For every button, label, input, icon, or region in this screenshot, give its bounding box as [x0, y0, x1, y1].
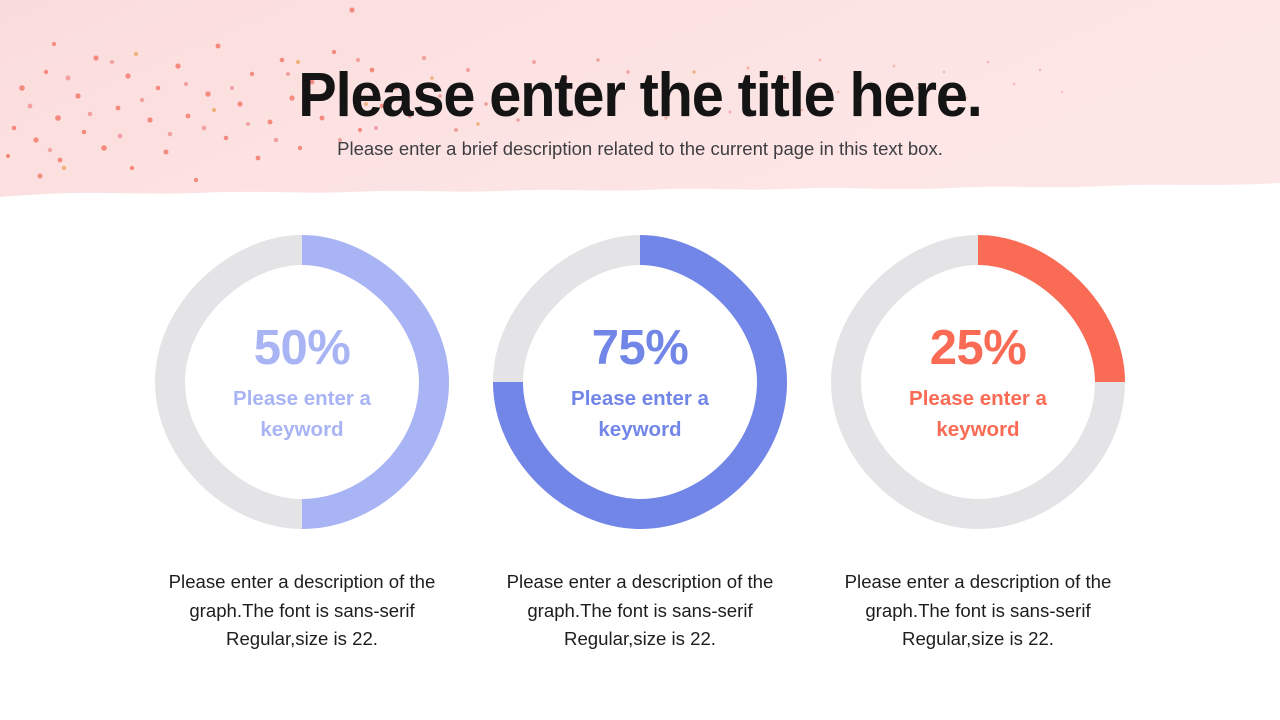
donut-chart-2-keyword: Please enter a keyword: [555, 383, 725, 445]
donut-chart-3-caption: Please enter a description of the graph.…: [818, 568, 1138, 654]
chart-column-2: 75% Please enter a keyword Please enter …: [471, 232, 809, 654]
donut-charts-row: 50% Please enter a keyword Please enter …: [0, 232, 1280, 654]
donut-chart-2[interactable]: 75% Please enter a keyword: [490, 232, 790, 532]
donut-chart-2-percent: 75%: [592, 320, 689, 376]
donut-chart-1[interactable]: 50% Please enter a keyword: [152, 232, 452, 532]
donut-chart-3-percent: 25%: [930, 320, 1027, 376]
donut-chart-3-center-labels: 25% Please enter a keyword: [828, 232, 1128, 532]
header-band: Please enter the title here. Please ente…: [0, 0, 1280, 202]
page-subtitle: Please enter a brief description related…: [0, 136, 1280, 162]
donut-chart-1-center-labels: 50% Please enter a keyword: [152, 232, 452, 532]
donut-chart-1-percent: 50%: [254, 320, 351, 376]
donut-chart-3[interactable]: 25% Please enter a keyword: [828, 232, 1128, 532]
donut-chart-1-keyword: Please enter a keyword: [217, 383, 387, 445]
chart-column-3: 25% Please enter a keyword Please enter …: [809, 232, 1147, 654]
donut-chart-2-center-labels: 75% Please enter a keyword: [490, 232, 790, 532]
donut-chart-1-caption: Please enter a description of the graph.…: [142, 568, 462, 654]
donut-chart-3-keyword: Please enter a keyword: [893, 383, 1063, 445]
page-title: Please enter the title here.: [45, 58, 1235, 134]
chart-column-1: 50% Please enter a keyword Please enter …: [133, 232, 471, 654]
donut-chart-2-caption: Please enter a description of the graph.…: [480, 568, 800, 654]
